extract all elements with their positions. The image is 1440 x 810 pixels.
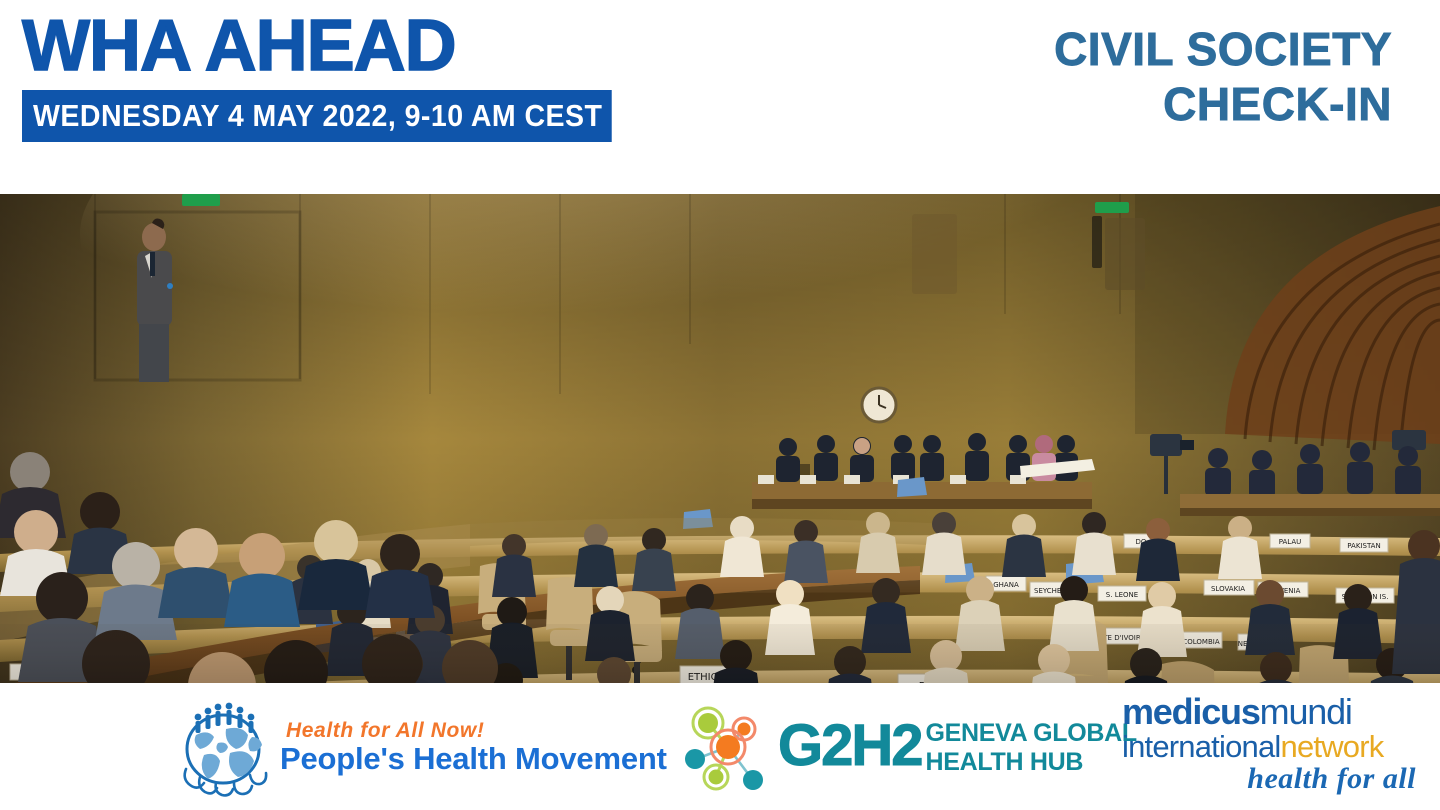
- header-right-block: CIVIL SOCIETY CHECK-IN: [932, 22, 1392, 132]
- wha-ahead-slide: WHA AHEAD WEDNESDAY 4 MAY 2022, 9-10 AM …: [0, 0, 1440, 810]
- svg-text:PALAU: PALAU: [1279, 538, 1302, 546]
- mmi-word-mundi: mundi: [1260, 691, 1352, 732]
- exit-sign-left: [182, 194, 220, 206]
- logo-g2h2[interactable]: G2H2 GENEVA GLOBAL HEALTH HUB: [678, 699, 1137, 793]
- event-date-banner: WEDNESDAY 4 MAY 2022, 9-10 AM CEST: [22, 90, 612, 142]
- mmi-wordmark: medicusmundi: [1122, 693, 1422, 730]
- slide-header: WHA AHEAD WEDNESDAY 4 MAY 2022, 9-10 AM …: [0, 0, 1440, 194]
- mmi-word-international: international: [1122, 729, 1281, 764]
- session-title-line-2: CHECK-IN: [932, 77, 1392, 132]
- mmi-word-network: network: [1281, 729, 1384, 764]
- phm-tagline: Health for All Now!: [286, 719, 667, 742]
- header-left-block: WHA AHEAD WEDNESDAY 4 MAY 2022, 9-10 AM …: [22, 8, 663, 142]
- logo-peoples-health-movement[interactable]: Health for All Now! People's Health Move…: [176, 697, 667, 797]
- assembly-hall-photo: DO PALAU PAKISTAN GHANA SEYCHELLES S. LE…: [0, 194, 1440, 683]
- svg-text:GHANA: GHANA: [993, 581, 1019, 589]
- right-far-delegates: [1180, 442, 1440, 516]
- session-title-line-1: CIVIL SOCIETY: [932, 22, 1392, 77]
- svg-text:PAKISTAN: PAKISTAN: [1347, 542, 1380, 550]
- svg-text:S. LEONE: S. LEONE: [1106, 591, 1138, 599]
- mmi-word-medicus: medicus: [1122, 691, 1260, 732]
- globe-with-people-icon: [176, 697, 272, 797]
- g2h2-acronym: G2H2: [778, 716, 922, 776]
- page-title: WHA AHEAD: [22, 8, 663, 84]
- logo-medicus-mundi-international[interactable]: medicusmundi internationalnetwork health…: [1122, 693, 1422, 795]
- exit-sign-right: [1095, 202, 1129, 213]
- assembly-hall-illustration: DO PALAU PAKISTAN GHANA SEYCHELLES S. LE…: [0, 194, 1440, 683]
- network-nodes-icon: [678, 699, 774, 793]
- phm-title: People's Health Movement: [280, 742, 667, 776]
- mmi-tagline: health for all: [1122, 763, 1422, 795]
- mmi-subline: internationalnetwork: [1122, 730, 1422, 763]
- svg-text:SLOVAKIA: SLOVAKIA: [1211, 585, 1245, 593]
- g2h2-subtitle-line-1: GENEVA GLOBAL: [926, 717, 1137, 746]
- slide-footer: Health for All Now! People's Health Move…: [0, 683, 1440, 810]
- g2h2-subtitle-line-2: HEALTH HUB: [926, 746, 1137, 775]
